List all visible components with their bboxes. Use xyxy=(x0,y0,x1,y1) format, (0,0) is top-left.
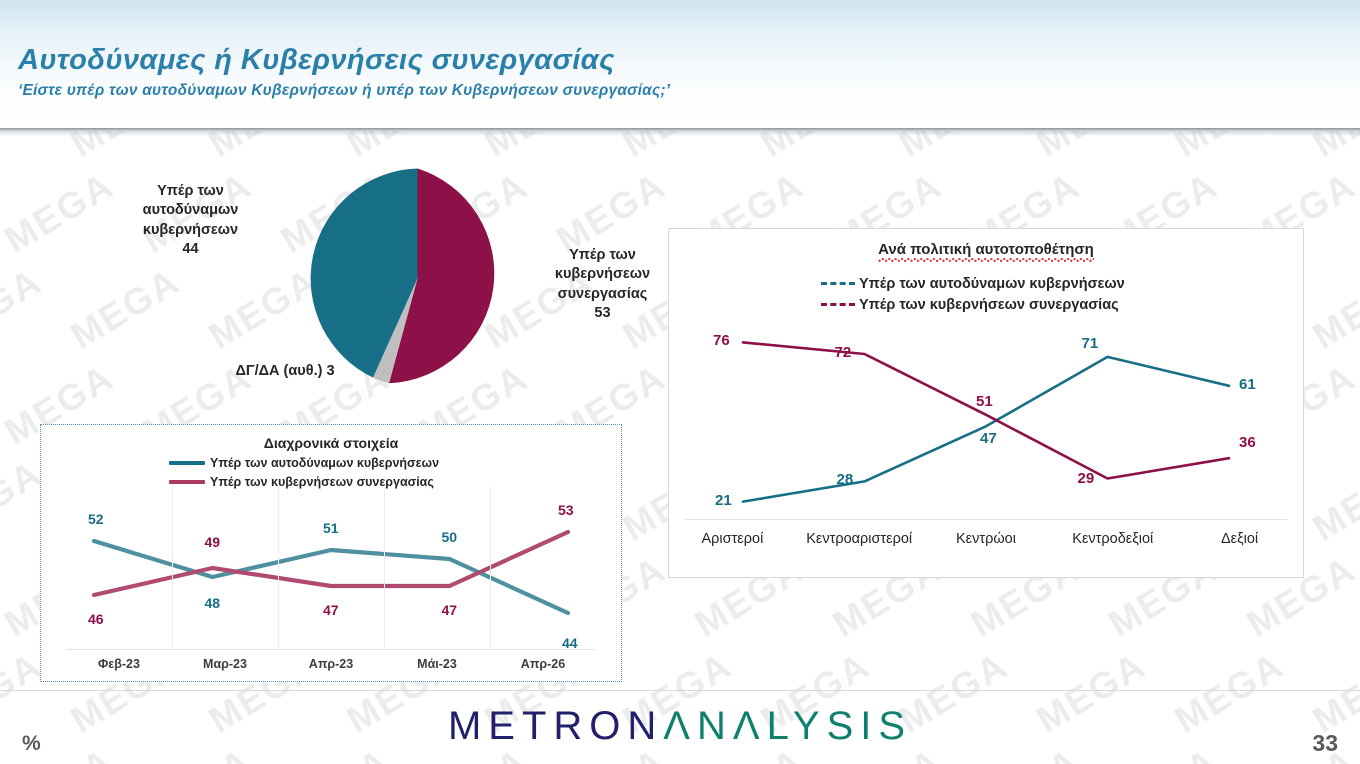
pie-label-line: Υπέρ των xyxy=(108,182,273,201)
data-label: 28 xyxy=(837,471,854,488)
political-category-labels: ΑριστεροίΚεντροαριστεροίΚεντρώοιΚεντροδε… xyxy=(669,531,1303,547)
pie-label-line: Υπέρ των xyxy=(535,246,670,265)
data-label: 47 xyxy=(442,602,458,618)
data-label: 76 xyxy=(713,332,730,349)
timeseries-category-labels: Φεβ-23Μαρ-23Απρ-23Μάι-23Απρ-26 xyxy=(66,657,596,671)
pie-label-line: αυτοδύναμων xyxy=(108,201,273,220)
data-label: 29 xyxy=(1078,470,1095,487)
legend-item-synergasias: Υπέρ των κυβερνήσεων συνεργασίας xyxy=(821,294,1125,315)
category-label: Απρ-26 xyxy=(490,657,596,671)
category-label: Φεβ-23 xyxy=(66,657,172,671)
legend-political: Υπέρ των αυτοδύναμων κυβερνήσεων Υπέρ τω… xyxy=(821,273,1125,315)
data-label: 21 xyxy=(715,492,732,509)
category-label: Μάι-23 xyxy=(384,657,490,671)
political-lines-svg xyxy=(669,325,1303,519)
data-label: 46 xyxy=(88,611,104,627)
data-label: 71 xyxy=(1082,335,1099,352)
logo-analysis: ΛNΛLYSIS xyxy=(663,704,912,748)
pie-label-autodynamon: Υπέρ τωναυτοδύναμωνκυβερνήσεων44 xyxy=(108,182,273,259)
header-divider-shadow xyxy=(0,131,1360,136)
pie-label-line: κυβερνήσεων xyxy=(108,221,273,240)
political-axis-line xyxy=(685,519,1287,520)
legend-dash-teal-icon xyxy=(821,282,855,285)
data-label: 53 xyxy=(558,502,574,518)
data-label: 47 xyxy=(323,602,339,618)
pie-label-line: συνεργασίας xyxy=(535,285,670,304)
watermark-text: MEGA xyxy=(1306,260,1360,357)
gridline xyxy=(490,487,491,649)
chart-title-political-text: Ανά πολιτική αυτοτοποθέτηση xyxy=(878,241,1094,258)
footer-divider xyxy=(0,690,1360,691)
pie-chart xyxy=(305,166,530,391)
watermark-text: MEGA xyxy=(1306,452,1360,549)
line-synergasias[interactable] xyxy=(743,342,1229,478)
data-label: 61 xyxy=(1239,376,1256,393)
political-self-placement-chart: Ανά πολιτική αυτοτοποθέτηση Υπέρ των αυτ… xyxy=(668,228,1304,578)
pie-chart-svg xyxy=(305,166,530,391)
political-plot-area: 21284771617672512936 xyxy=(669,325,1303,519)
category-label: Κεντροαριστεροί xyxy=(796,531,923,547)
spellcheck-squiggle-icon xyxy=(878,258,1094,262)
gridline xyxy=(384,487,385,649)
pie-label-line: κυβερνήσεων xyxy=(535,265,670,284)
slide: MEGAMEGAMEGAMEGAMEGAMEGAMEGAMEGAMEGAMEGA… xyxy=(0,0,1360,764)
legend-label-autodynamon: Υπέρ των αυτοδύναμων κυβερνήσεων xyxy=(859,276,1125,292)
chart-title-timeseries: Διαχρονικά στοιχεία xyxy=(41,435,621,451)
data-label: 51 xyxy=(323,520,339,536)
data-label: 47 xyxy=(980,430,997,447)
timeseries-chart: Διαχρονικά στοιχεία Υπέρ των αυτοδύναμων… xyxy=(40,424,622,682)
metron-analysis-logo: METRONΛNΛLYSIS xyxy=(0,704,1360,749)
gridline xyxy=(172,487,173,649)
data-label: 52 xyxy=(88,511,104,527)
legend-dash-magenta-icon xyxy=(821,303,855,306)
gridline xyxy=(278,487,279,649)
data-label: 36 xyxy=(1239,434,1256,451)
data-label: 48 xyxy=(205,595,221,611)
slide-header: Αυτοδύναμες ή Κυβερνήσεις συνεργασίας ‘Ε… xyxy=(0,0,1360,130)
data-label: 51 xyxy=(976,393,993,410)
legend-item-autodynamon: Υπέρ των αυτοδύναμων κυβερνήσεων xyxy=(821,273,1125,294)
unit-label: % xyxy=(22,732,41,756)
legend-timeseries: Υπέρ των αυτοδύναμων κυβερνήσεων Υπέρ τω… xyxy=(169,453,439,491)
page-title: Αυτοδύναμες ή Κυβερνήσεις συνεργασίας xyxy=(18,44,615,77)
category-label: Κεντρώοι xyxy=(923,531,1050,547)
category-label: Αριστεροί xyxy=(669,531,796,547)
watermark-text: MEGA xyxy=(0,260,49,357)
legend-item-ts-autodynamon: Υπέρ των αυτοδύναμων κυβερνήσεων xyxy=(169,453,439,472)
pie-label-synergasias: Υπέρ τωνκυβερνήσεωνσυνεργασίας53 xyxy=(535,246,670,323)
legend-line-magenta-icon xyxy=(169,480,205,484)
pie-label-dg-da: ΔΓ/ΔΑ (αυθ.) 3 xyxy=(160,362,410,381)
timeseries-plot-area: 52464948514750475344 xyxy=(66,487,596,649)
timeseries-axis-line xyxy=(66,649,596,650)
data-label: 49 xyxy=(205,534,221,550)
legend-label-ts-autodynamon: Υπέρ των αυτοδύναμων κυβερνήσεων xyxy=(210,456,439,470)
category-label: Δεξιοί xyxy=(1176,531,1303,547)
page-number: 33 xyxy=(1312,730,1338,757)
logo-metron: METRON xyxy=(448,704,663,748)
timeseries-lines-svg xyxy=(66,487,596,649)
page-subtitle: ‘Είστε υπέρ των αυτοδύναμων Κυβερνήσεων … xyxy=(18,82,670,100)
pie-label-line: 53 xyxy=(535,304,670,323)
pie-chart-panel: Υπέρ τωναυτοδύναμωνκυβερνήσεων44 Υπέρ τω… xyxy=(100,150,620,400)
line-autodynamon[interactable] xyxy=(743,357,1229,502)
data-label: 72 xyxy=(835,344,852,361)
data-label: 50 xyxy=(442,529,458,545)
category-label: Απρ-23 xyxy=(278,657,384,671)
legend-label-synergasias: Υπέρ των κυβερνήσεων συνεργασίας xyxy=(859,297,1119,313)
category-label: Κεντροδεξιοί xyxy=(1049,531,1176,547)
pie-label-line: 44 xyxy=(108,240,273,259)
slide-footer: METRONΛNΛLYSIS % 33 xyxy=(0,690,1360,764)
chart-title-political: Ανά πολιτική αυτοτοποθέτηση xyxy=(669,241,1303,258)
category-label: Μαρ-23 xyxy=(172,657,278,671)
legend-line-teal-icon xyxy=(169,461,205,465)
